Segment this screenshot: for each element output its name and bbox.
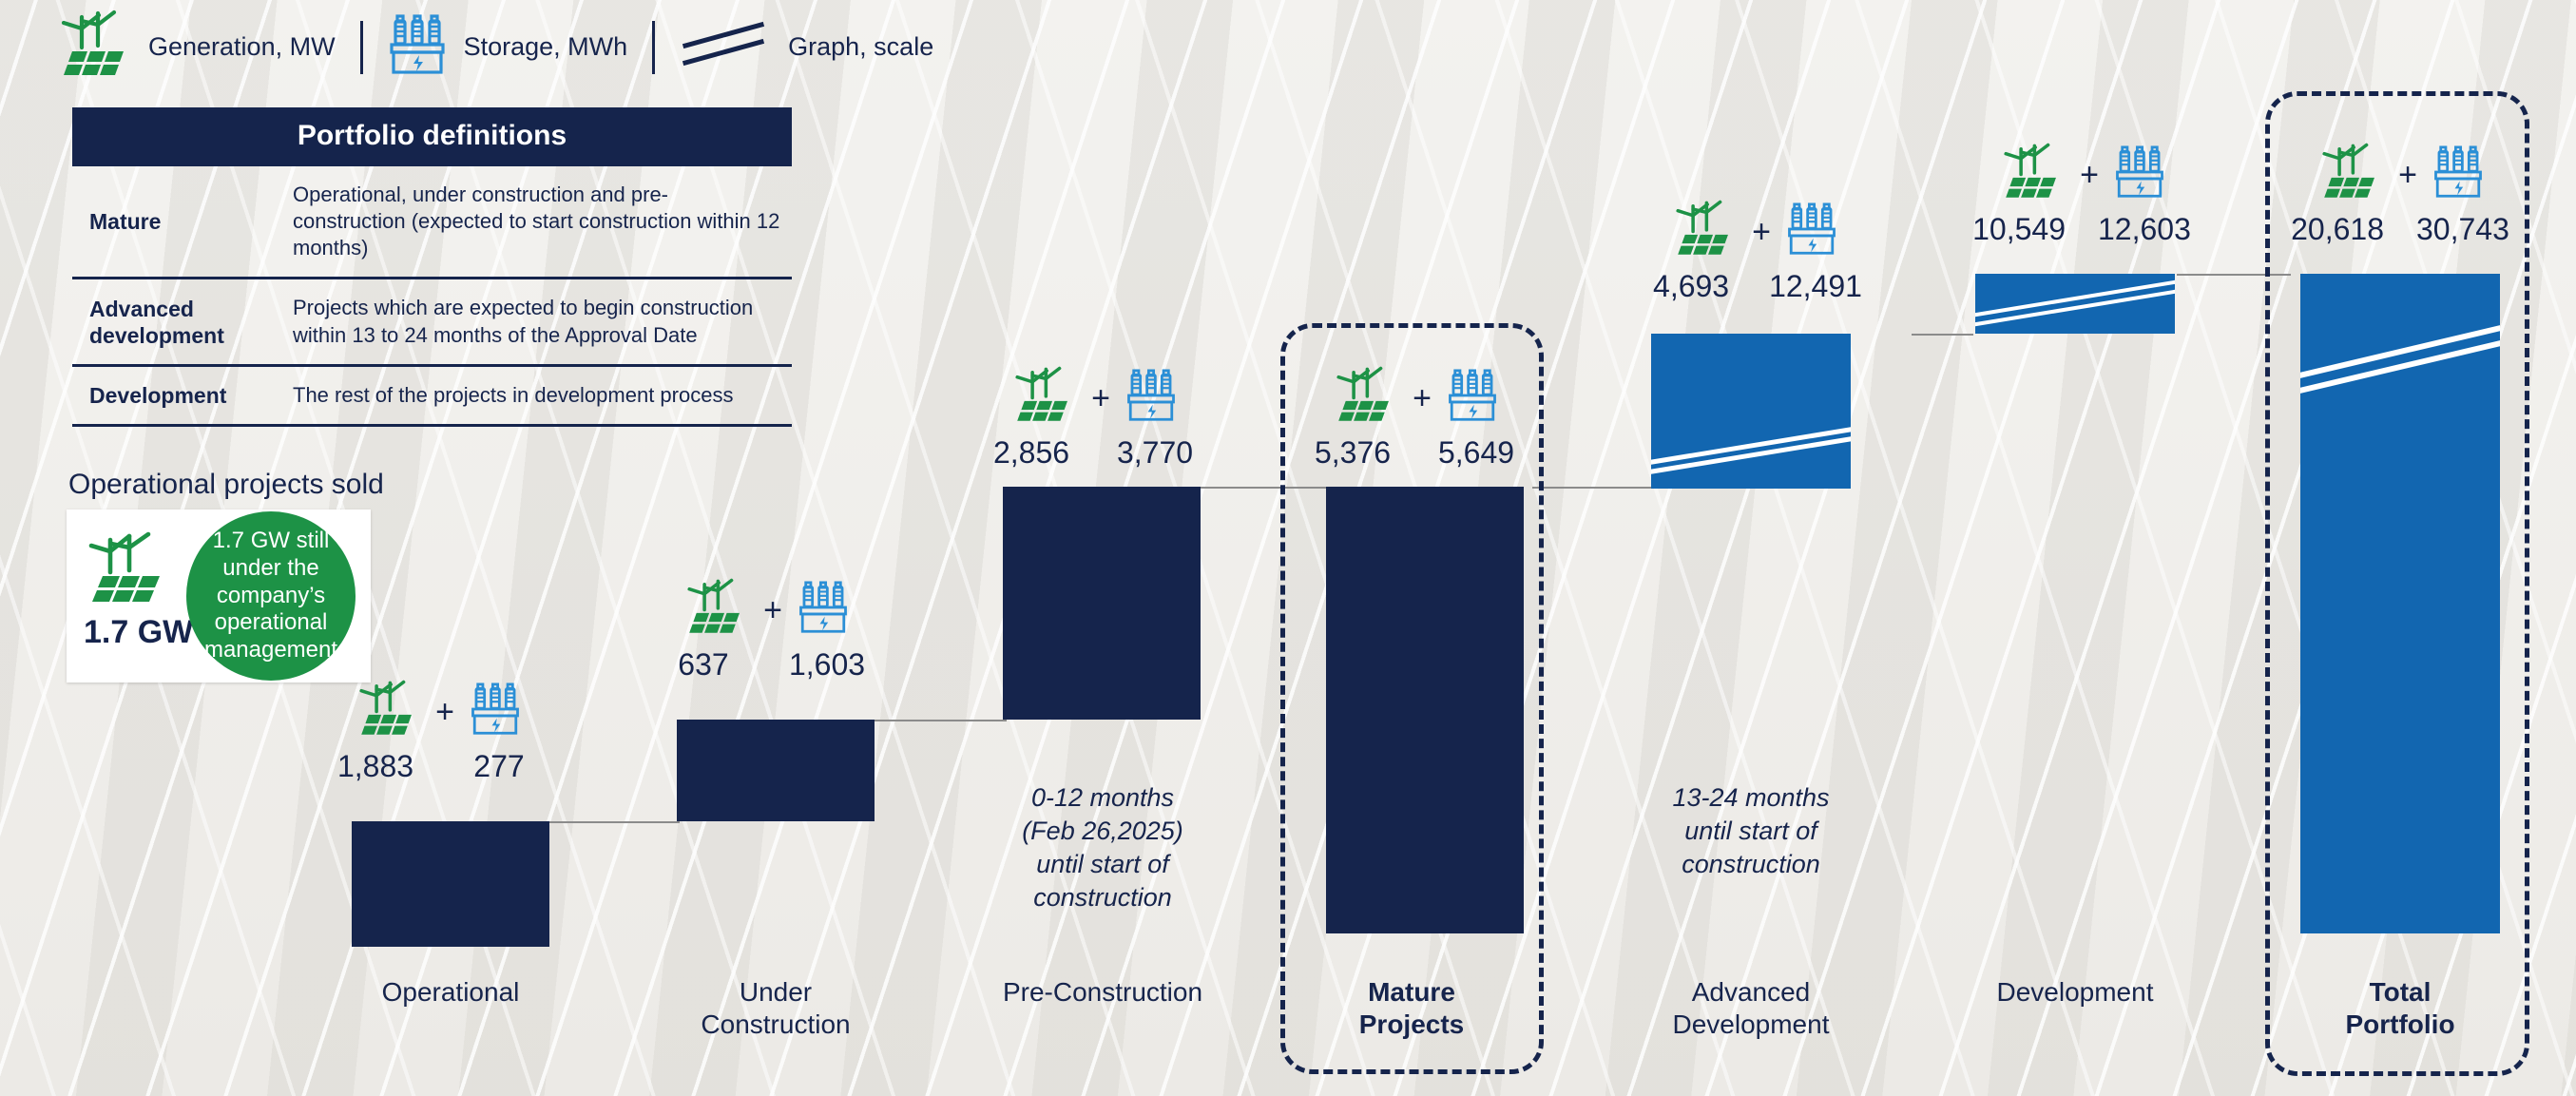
battery-storage-icon	[1786, 202, 1837, 261]
definition-row-mature: Mature Operational, under construction a…	[72, 166, 792, 279]
generation-value: 637	[658, 647, 749, 683]
wind-solar-icon	[1331, 366, 1397, 430]
storage-value: 1,603	[781, 647, 873, 683]
bar-values-under-construction: + 637 1,603	[656, 578, 875, 683]
battery-storage-icon	[1125, 368, 1177, 428]
scale-break-icon	[2300, 274, 2500, 933]
storage-value: 5,649	[1431, 435, 1522, 471]
generation-value: 1,883	[330, 749, 421, 784]
wind-solar-icon	[1009, 366, 1076, 430]
connector-operational-to-uc	[549, 821, 680, 823]
note-pre-construction: 0-12 months (Feb 26,2025) until start of…	[979, 781, 1226, 914]
connector-uc-to-pre	[875, 720, 1007, 721]
bar-pre-construction[interactable]	[1003, 487, 1201, 720]
definition-term: Mature	[72, 193, 293, 250]
definition-term: Advanced development	[72, 280, 293, 364]
bar-values-mature-projects: + 5,376 5,649	[1305, 366, 1524, 471]
connector-adv-to-dev	[1912, 334, 1973, 336]
bar-values-development: + 10,549 12,603	[1944, 143, 2220, 247]
bar-total-portfolio[interactable]	[2300, 274, 2500, 933]
bar-values-pre-construction: + 2,856 3,770	[984, 366, 1202, 471]
bar-label-development: Development	[1951, 976, 2199, 1009]
battery-storage-icon	[2432, 144, 2484, 204]
plus-sign: +	[1089, 382, 1112, 414]
storage-value: 12,603	[2098, 212, 2191, 247]
definition-desc: The rest of the projects in development …	[293, 367, 792, 424]
bar-label-mature-projects: Mature Projects	[1288, 976, 1535, 1041]
legend-item-storage: Storage, MWh	[388, 13, 653, 81]
plus-sign: +	[433, 696, 456, 728]
storage-value: 12,491	[1769, 269, 1862, 304]
wind-solar-icon	[57, 10, 131, 85]
connector-mature-to-adv	[1532, 487, 1651, 489]
generation-value: 10,549	[1972, 212, 2066, 247]
bar-under-construction[interactable]	[677, 720, 875, 821]
legend-item-scale: Graph, scale	[680, 19, 958, 75]
battery-storage-icon	[1447, 368, 1498, 428]
bar-development[interactable]	[1975, 274, 2175, 334]
storage-value: 30,743	[2416, 212, 2509, 247]
wind-solar-icon	[86, 530, 177, 613]
bar-label-operational: Operational	[328, 976, 573, 1009]
scale-break-icon	[1651, 334, 1851, 489]
definition-desc: Projects which are expected to begin con…	[293, 279, 792, 363]
legend-label-storage: Storage, MWh	[464, 32, 628, 63]
definition-desc: Operational, under construction and pre-…	[293, 166, 792, 277]
bar-values-operational: + 1,883 277	[328, 680, 547, 784]
generation-value: 20,618	[2291, 212, 2384, 247]
generation-value: 2,856	[986, 435, 1077, 471]
generation-value: 5,376	[1307, 435, 1398, 471]
bar-label-advanced-development: Advanced Development	[1627, 976, 1874, 1041]
legend-item-generation: Generation, MW	[57, 10, 360, 85]
portfolio-definitions-table: Portfolio definitions Mature Operational…	[72, 107, 792, 427]
wind-solar-icon	[682, 578, 748, 642]
note-advanced-development: 13-24 months until start of construction	[1627, 781, 1874, 881]
definition-term: Development	[72, 367, 293, 424]
legend-label-scale: Graph, scale	[788, 32, 933, 63]
legend-divider-2	[652, 21, 655, 74]
bar-label-total-portfolio: Total Portfolio	[2277, 976, 2524, 1041]
operational-management-bubble: 1.7 GW still under the company’s operati…	[186, 511, 356, 681]
storage-value: 277	[453, 749, 545, 784]
bar-label-pre-construction: Pre-Construction	[965, 976, 1240, 1009]
plus-sign: +	[2078, 159, 2101, 191]
definition-row-development: Development The rest of the projects in …	[72, 367, 792, 427]
legend-divider-1	[360, 21, 363, 74]
plus-sign: +	[1411, 382, 1433, 414]
plus-sign: +	[1750, 216, 1773, 248]
battery-storage-icon	[470, 682, 521, 741]
operational-projects-sold-title: Operational projects sold	[68, 469, 384, 501]
battery-storage-icon	[798, 580, 849, 640]
wind-solar-icon	[354, 680, 420, 743]
plus-sign: +	[761, 594, 784, 626]
wind-solar-icon	[1670, 200, 1737, 263]
definitions-title: Portfolio definitions	[72, 107, 792, 166]
storage-value: 3,770	[1109, 435, 1201, 471]
wind-solar-icon	[1998, 143, 2065, 206]
plus-sign: +	[2396, 159, 2419, 191]
legend-label-generation: Generation, MW	[148, 32, 336, 63]
bar-advanced-development[interactable]	[1651, 334, 1851, 489]
bar-label-under-construction: Under Construction	[653, 976, 898, 1041]
battery-storage-icon	[2114, 144, 2165, 204]
legend: Generation, MW Storage, MWh	[57, 10, 958, 85]
battery-storage-icon	[388, 13, 447, 81]
wind-solar-icon	[2316, 143, 2383, 206]
scale-break-icon	[680, 19, 771, 75]
bar-mature-projects[interactable]	[1326, 487, 1524, 933]
bar-values-advanced-development: + 4,693 12,491	[1635, 200, 1873, 304]
bar-operational[interactable]	[352, 821, 549, 947]
scale-break-icon	[1975, 274, 2175, 334]
generation-value: 4,693	[1645, 269, 1737, 304]
bar-values-total-portfolio: + 20,618 30,743	[2277, 143, 2524, 247]
operational-sold-value: 1.7 GW	[84, 614, 193, 651]
definition-row-advanced-development: Advanced development Projects which are …	[72, 279, 792, 366]
